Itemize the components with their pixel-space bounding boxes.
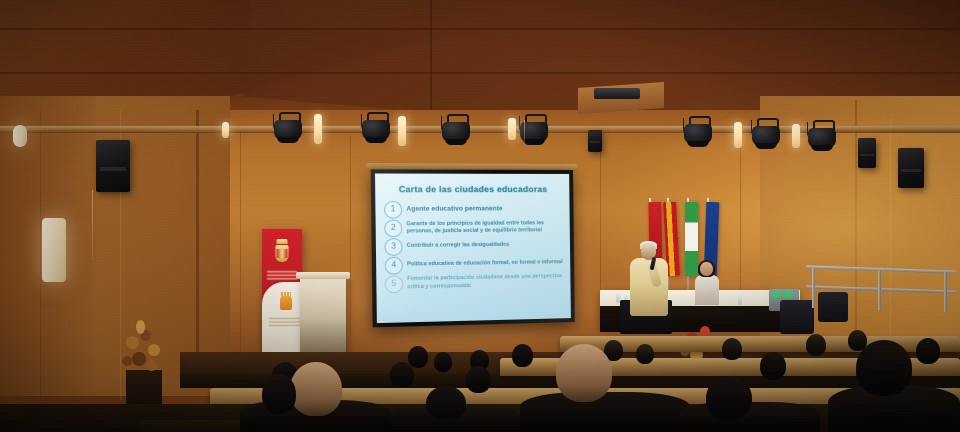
panelist-head: [700, 262, 713, 276]
ceiling-lamp: [398, 116, 406, 146]
coat-of-arms-icon: [276, 245, 289, 262]
handrail-post: [878, 270, 881, 310]
wall-sconce: [42, 218, 66, 282]
audience-head: [466, 366, 491, 393]
wall-plank-seam: [40, 110, 41, 400]
slide-item-number: 4: [385, 256, 403, 274]
ceiling-lamp: [792, 124, 800, 148]
water-bottle: [738, 294, 742, 305]
wall-speaker: [588, 130, 602, 152]
audience-head: [722, 338, 742, 360]
seated-panelist: [694, 262, 720, 306]
slide-item: 3 Contribuir a corregir las desigualdade…: [407, 238, 563, 254]
banner-bottom-text: [269, 318, 302, 327]
projection-screen: Carta de las ciudades educadoras 1 Agent…: [371, 169, 575, 333]
slide-item: 4 Política educativa de educación formal…: [407, 256, 563, 273]
ceiling-lamp: [734, 122, 742, 148]
slide-item-text: Contribuir a corregir las desigualdades: [407, 242, 509, 251]
floral-arrangement: [118, 316, 172, 376]
slide-item-text: Garante de los principios de igualdad en…: [406, 220, 562, 237]
wall-plank-seam: [740, 135, 741, 295]
wall-plank-seam: [350, 135, 351, 335]
audience-head: [916, 338, 940, 364]
wall-plank-seam: [240, 130, 241, 360]
slide-item-text: Agente educativo permanente: [406, 205, 502, 215]
hand-icon: [280, 296, 292, 310]
auditorium-photo: Carta de las ciudades educadoras 1 Agent…: [0, 0, 960, 432]
audience-head: [806, 334, 826, 356]
presentation-slide: Carta de las ciudades educadoras 1 Agent…: [375, 173, 571, 323]
ceiling-lamp: [508, 118, 516, 140]
slide-item: 2 Garante de los principios de igualdad …: [406, 220, 562, 237]
audience-head: [262, 374, 296, 414]
audience-head: [636, 344, 654, 364]
ceiling-lamp: [314, 114, 322, 144]
wall-speaker: [898, 148, 924, 188]
chair: [780, 300, 814, 334]
handrail-post: [944, 272, 947, 312]
audience-head: [760, 352, 786, 380]
slide-item: 1 Agente educativo permanente: [406, 202, 562, 217]
chair: [818, 292, 848, 322]
slide-item-text: Política educativa de educación formal, …: [407, 259, 563, 269]
audience-head: [512, 344, 533, 367]
ceiling-beam: [0, 28, 960, 30]
wall-sconce: [13, 125, 27, 147]
audience-head: [434, 352, 452, 372]
slide-item-number: 3: [384, 238, 402, 256]
audience-head: [390, 362, 414, 388]
status-led-icon: [784, 292, 792, 297]
audience-head: [290, 362, 342, 416]
hanging-cable: [92, 190, 93, 260]
slide-item: 5 Fomentar la participación ciudadana de…: [407, 273, 563, 291]
slide-item-text: Fomentar la participación ciudadana desd…: [407, 273, 563, 291]
slide-title: Carta de las ciudades educadoras: [383, 184, 563, 194]
slide-item-number: 2: [384, 220, 402, 238]
lectern: [300, 276, 346, 356]
ceiling-beam: [0, 72, 960, 74]
audience-head: [408, 346, 428, 368]
wall-plank-seam: [600, 140, 601, 290]
audience-head: [556, 344, 612, 402]
wall-speaker: [858, 138, 876, 168]
audience-head: [856, 340, 912, 396]
status-led-icon: [772, 292, 780, 297]
ceiling-lamp: [222, 122, 229, 138]
slide-item-list: 1 Agente educativo permanente 2 Garante …: [383, 202, 564, 292]
audience-head: [426, 386, 466, 420]
slide-item-number: 5: [385, 275, 403, 293]
presenter: [628, 243, 670, 315]
audience-shoulders: [520, 392, 690, 432]
hanging-cable: [524, 120, 525, 146]
wall-corner-edge: [196, 110, 199, 380]
ceiling-projector: [594, 88, 640, 99]
screen-frame: Carta de las ciudades educadoras 1 Agent…: [371, 169, 575, 327]
lectern-top: [296, 272, 350, 279]
crown-icon: [277, 239, 288, 244]
banner-top-text: [267, 271, 297, 280]
slide-item-number: 1: [384, 201, 402, 219]
handrail-post: [812, 268, 815, 308]
wall-speaker: [96, 140, 130, 192]
audience-head: [706, 376, 752, 420]
panelist-torso: [695, 275, 719, 305]
